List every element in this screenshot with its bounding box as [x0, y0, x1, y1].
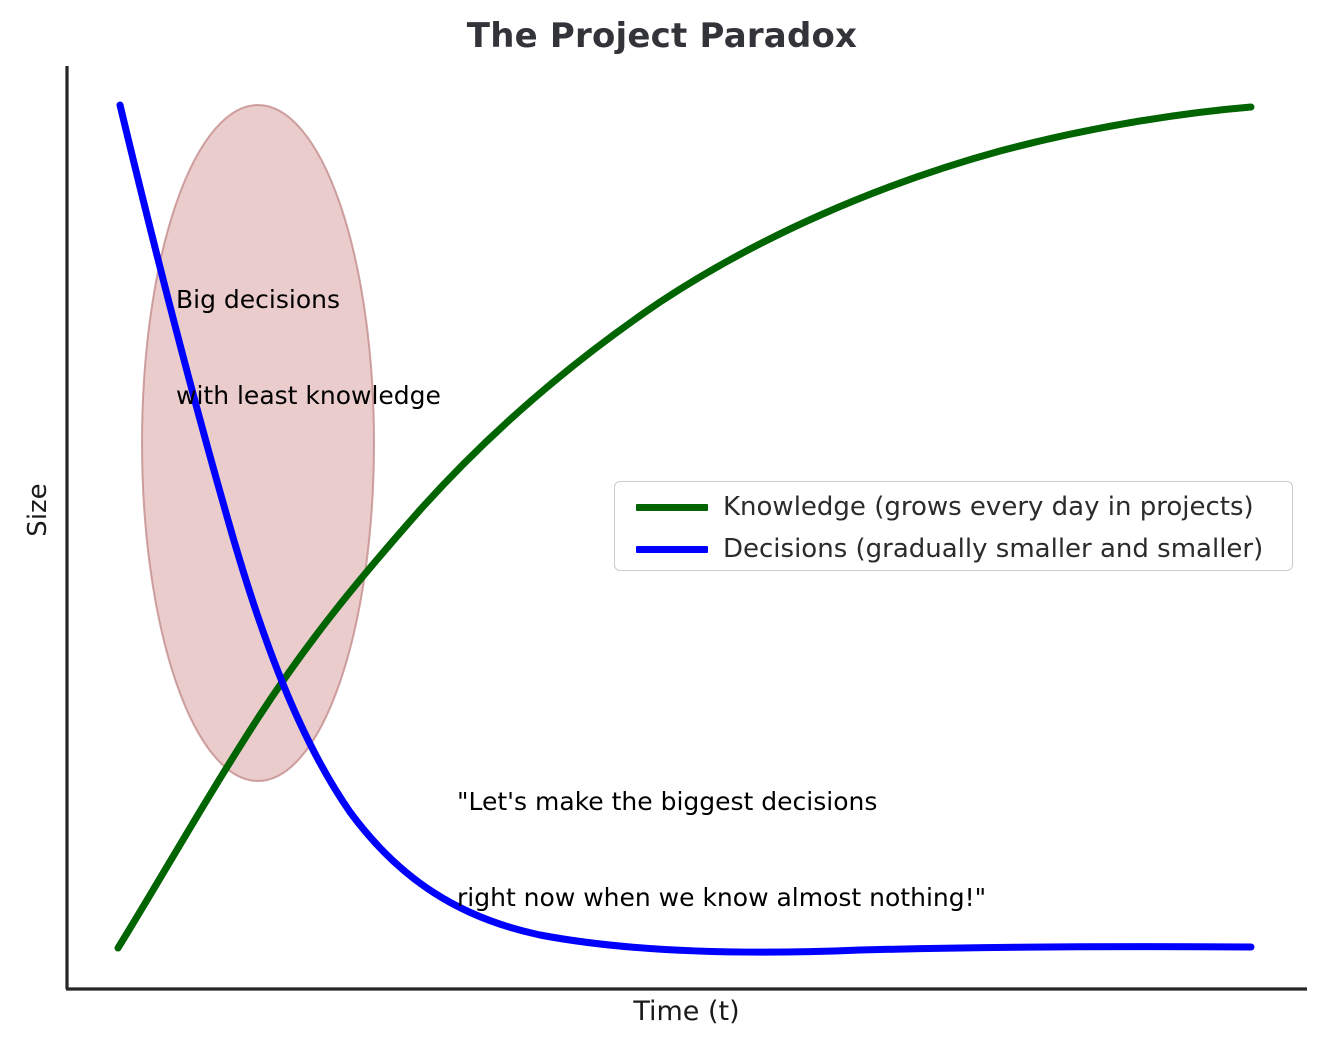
- annotation-big-decisions: Big decisions with least knowledge: [176, 220, 441, 476]
- annotation-quote-line2: right now when we know almost nothing!": [457, 882, 986, 914]
- legend: Knowledge (grows every day in projects) …: [614, 481, 1293, 571]
- legend-swatch-knowledge: [636, 504, 708, 511]
- y-axis-label: Size: [23, 450, 53, 570]
- x-axis-label: Time (t): [66, 996, 1307, 1027]
- legend-label-knowledge: Knowledge (grows every day in projects): [723, 492, 1254, 522]
- legend-item-knowledge: Knowledge (grows every day in projects): [627, 486, 1254, 528]
- legend-item-decisions: Decisions (gradually smaller and smaller…: [627, 528, 1263, 570]
- chart-figure: The Project Paradox Size Time (t) Big de…: [0, 0, 1324, 1054]
- annotation-big-decisions-line1: Big decisions: [176, 284, 441, 316]
- annotation-quote: "Let's make the biggest decisions right …: [457, 722, 986, 978]
- annotation-big-decisions-line2: with least knowledge: [176, 380, 441, 412]
- legend-swatch-decisions: [636, 546, 708, 553]
- annotation-quote-line1: "Let's make the biggest decisions: [457, 786, 986, 818]
- legend-label-decisions: Decisions (gradually smaller and smaller…: [723, 534, 1263, 564]
